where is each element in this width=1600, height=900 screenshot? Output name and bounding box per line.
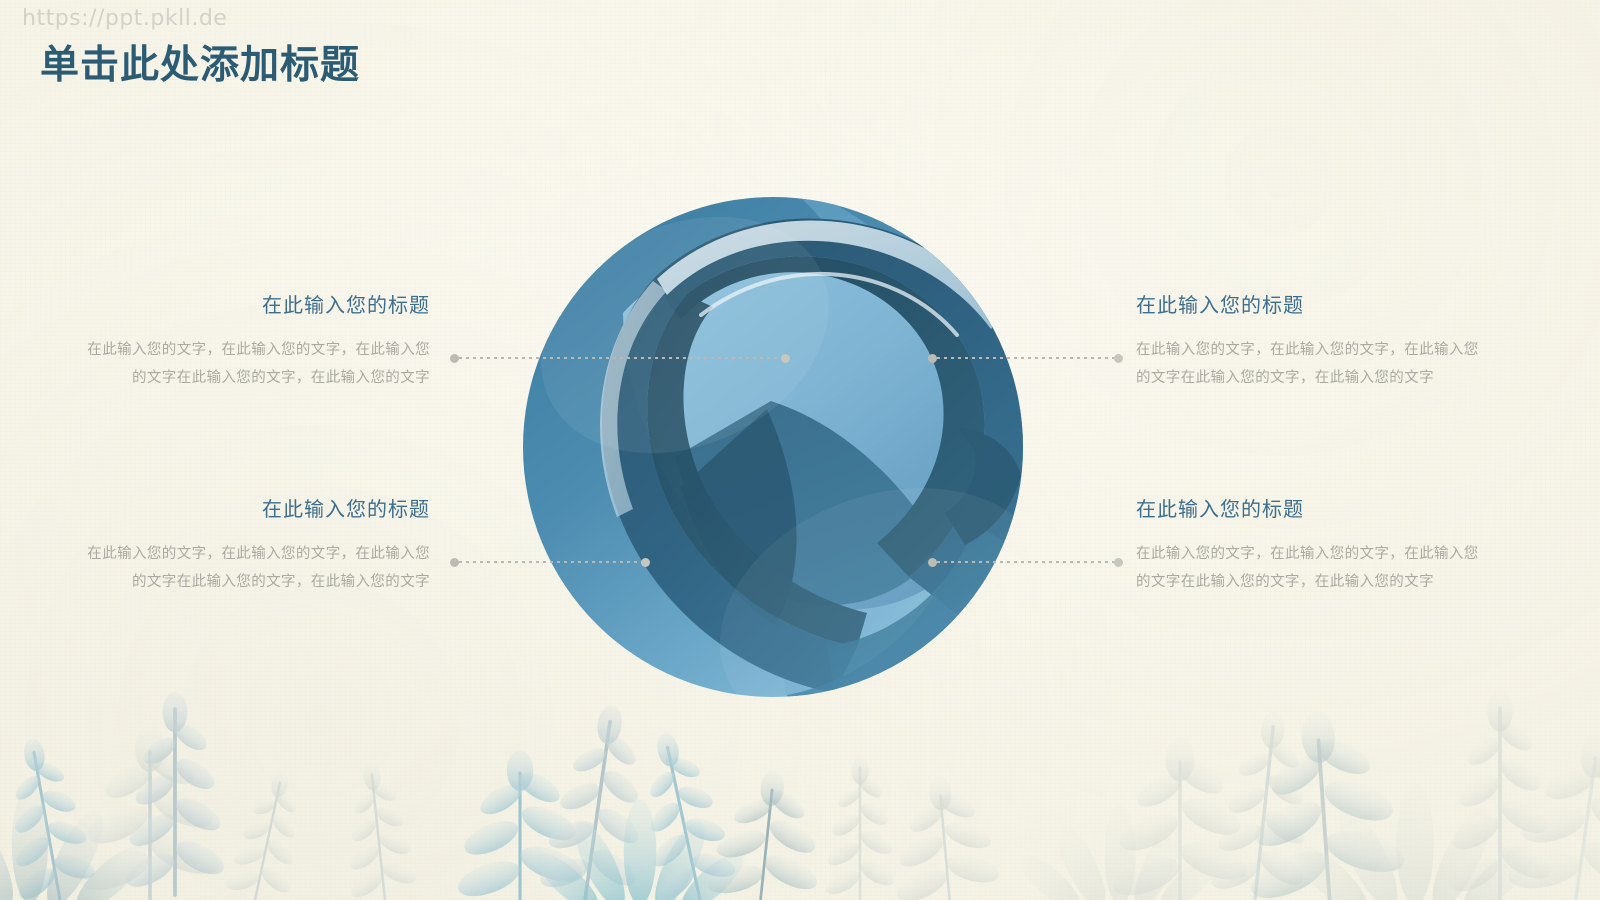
connector-node-start bbox=[450, 558, 459, 567]
block-body[interactable]: 在此输入您的文字，在此输入您的文字，在此输入您的文字在此输入您的文字，在此输入您… bbox=[85, 336, 430, 393]
connector-node-end bbox=[1114, 354, 1123, 363]
sphere-diagram[interactable] bbox=[505, 195, 1045, 705]
block-heading[interactable]: 在此输入您的标题 bbox=[1136, 294, 1481, 318]
connector-node-start bbox=[928, 354, 937, 363]
connector-dotted-line bbox=[459, 357, 781, 359]
text-block-bottom-right[interactable]: 在此输入您的标题 在此输入您的文字，在此输入您的文字，在此输入您的文字在此输入您… bbox=[1136, 498, 1481, 597]
block-body[interactable]: 在此输入您的文字，在此输入您的文字，在此输入您的文字在此输入您的文字，在此输入您… bbox=[85, 540, 430, 597]
connector-node-end bbox=[1114, 558, 1123, 567]
connector-dotted-line bbox=[459, 561, 641, 563]
connector-top-right bbox=[928, 353, 1123, 363]
connector-node-start bbox=[450, 354, 459, 363]
page-title[interactable]: 单击此处添加标题 bbox=[40, 34, 360, 90]
text-block-top-right[interactable]: 在此输入您的标题 在此输入您的文字，在此输入您的文字，在此输入您的文字在此输入您… bbox=[1136, 294, 1481, 393]
block-body[interactable]: 在此输入您的文字，在此输入您的文字，在此输入您的文字在此输入您的文字，在此输入您… bbox=[1136, 540, 1481, 597]
connector-node-end bbox=[781, 354, 790, 363]
block-heading[interactable]: 在此输入您的标题 bbox=[85, 498, 430, 522]
presentation-slide: https://ppt.pkll.de 单击此处添加标题 bbox=[0, 0, 1600, 900]
connector-bottom-left bbox=[450, 557, 650, 567]
connector-node-end bbox=[641, 558, 650, 567]
connector-dotted-line bbox=[937, 357, 1114, 359]
text-block-bottom-left[interactable]: 在此输入您的标题 在此输入您的文字，在此输入您的文字，在此输入您的文字在此输入您… bbox=[85, 498, 430, 597]
block-heading[interactable]: 在此输入您的标题 bbox=[1136, 498, 1481, 522]
text-block-top-left[interactable]: 在此输入您的标题 在此输入您的文字，在此输入您的文字，在此输入您的文字在此输入您… bbox=[85, 294, 430, 393]
connector-top-left bbox=[450, 353, 790, 363]
connector-bottom-right bbox=[928, 557, 1123, 567]
watermark-url: https://ppt.pkll.de bbox=[22, 6, 227, 31]
block-body[interactable]: 在此输入您的文字，在此输入您的文字，在此输入您的文字在此输入您的文字，在此输入您… bbox=[1136, 336, 1481, 393]
block-heading[interactable]: 在此输入您的标题 bbox=[85, 294, 430, 318]
connector-dotted-line bbox=[937, 561, 1114, 563]
connector-node-start bbox=[928, 558, 937, 567]
